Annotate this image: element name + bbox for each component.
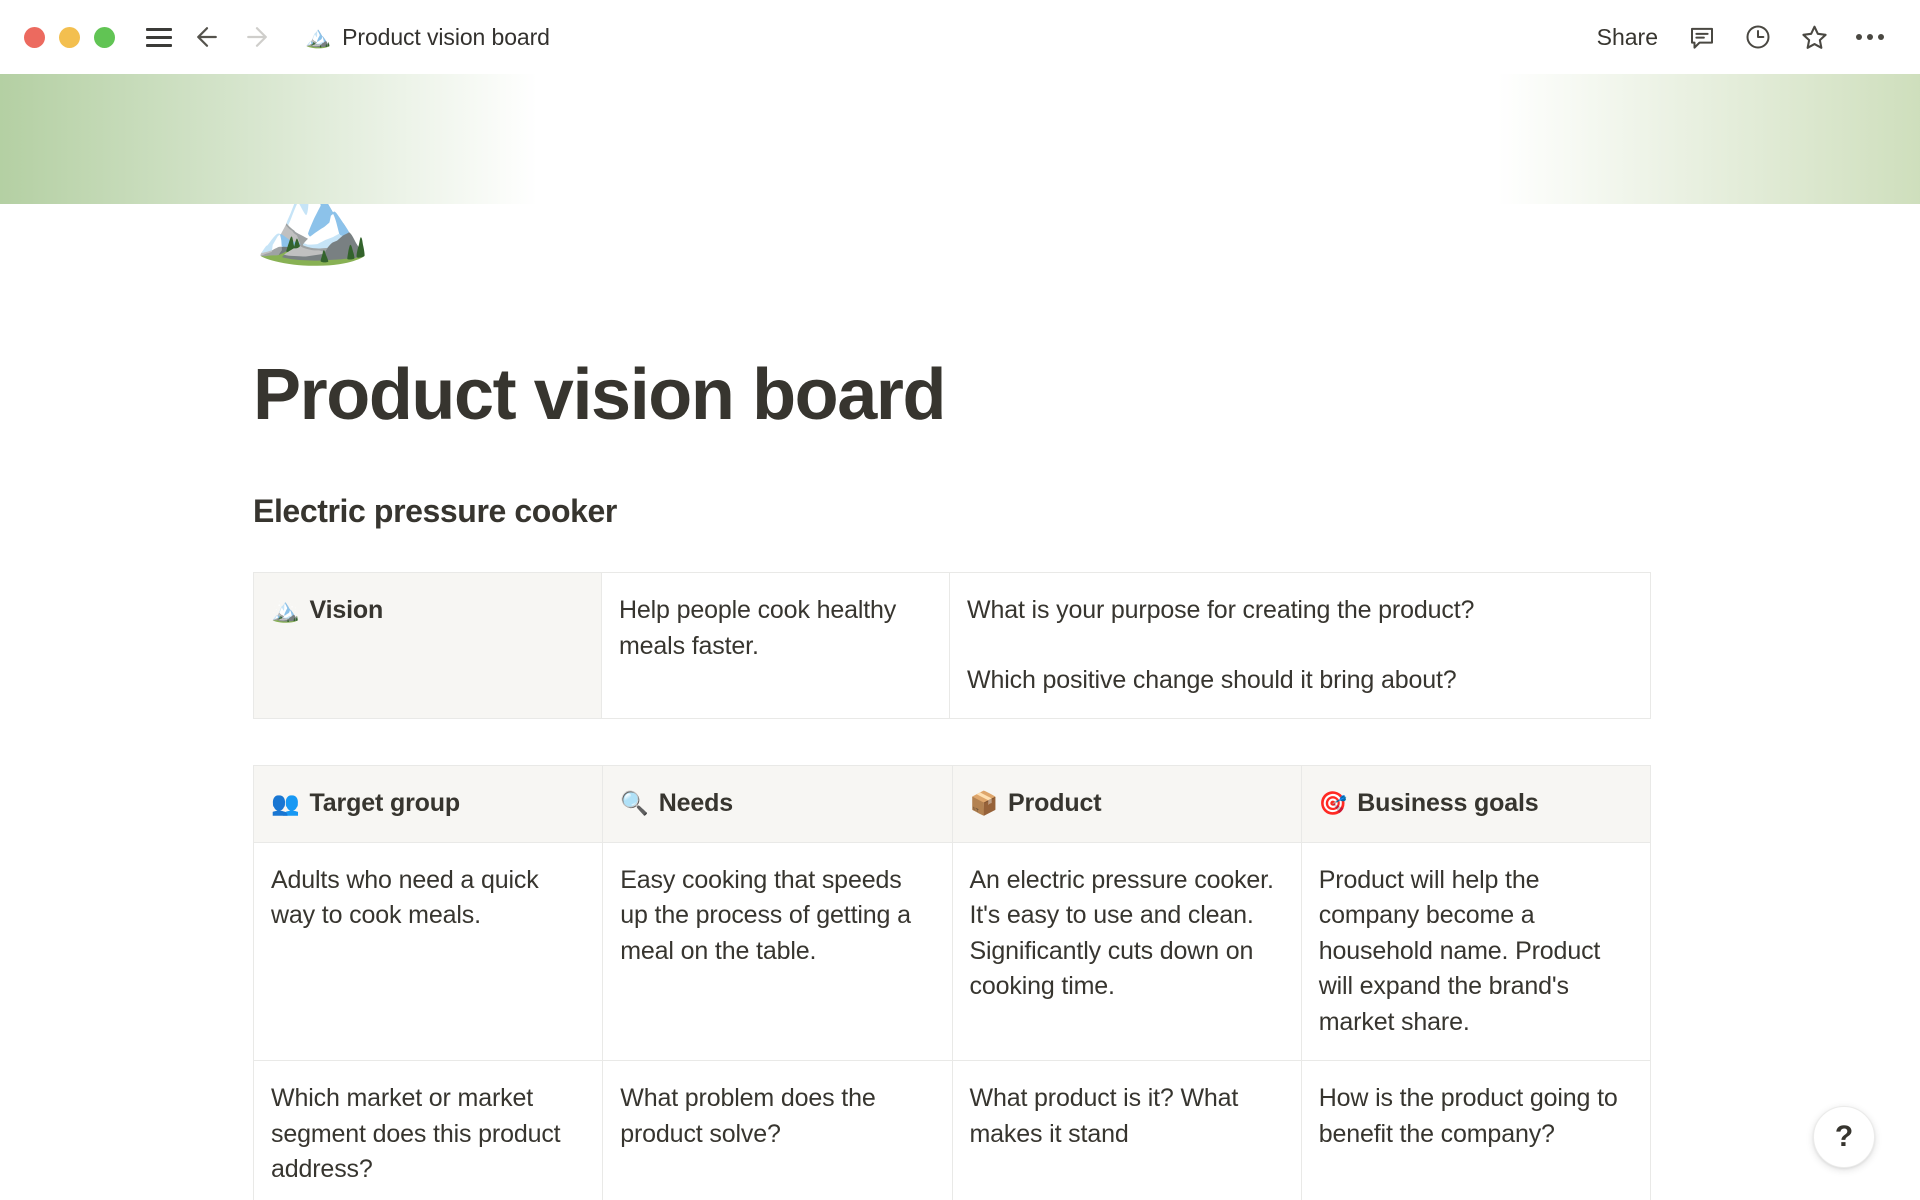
back-button[interactable] [185,15,229,59]
cell-needs-value[interactable]: Easy cooking that speeds up the process … [603,842,952,1061]
table-row: Adults who need a quick way to cook meal… [254,842,1651,1061]
window-titlebar: 🏔️ Product vision board Share [0,0,1920,74]
cell-target-group-value[interactable]: Adults who need a quick way to cook meal… [254,842,603,1061]
column-header-business-goals[interactable]: 🎯Business goals [1301,766,1650,843]
minimize-window-button[interactable] [59,27,80,48]
favorite-button[interactable] [1792,15,1836,59]
mountain-icon: 🏔️ [305,27,331,48]
page-icon-mountain-icon[interactable]: 🏔️ [253,204,373,262]
column-header-label: Target group [310,789,461,817]
more-horizontal-icon [1856,34,1884,40]
package-icon: 📦 [970,790,999,816]
vision-placeholder-cell[interactable]: What is your purpose for creating the pr… [950,573,1651,719]
hamburger-menu-button[interactable] [137,15,181,59]
page-title: Product vision board [253,204,1667,435]
cell-product-value[interactable]: An electric pressure cooker. It's easy t… [952,842,1301,1061]
cell-business-goals-value[interactable]: Product will help the company become a h… [1301,842,1650,1061]
close-window-button[interactable] [24,27,45,48]
magnifier-icon: 🔍 [620,790,649,816]
comments-button[interactable] [1680,15,1724,59]
comment-icon [1687,22,1717,52]
vision-board-table: 👥Target group 🔍Needs 📦Product 🎯Business … [253,765,1651,1200]
people-icon: 👥 [271,790,300,816]
forward-button[interactable] [235,15,279,59]
table-row: 🏔️Vision Help people cook healthy meals … [254,573,1651,719]
mountain-icon: 🏔️ [271,597,300,623]
vision-placeholder-1: What is your purpose for creating the pr… [967,593,1634,629]
vision-label-cell[interactable]: 🏔️Vision [254,573,602,719]
target-icon: 🎯 [1319,790,1348,816]
question-mark-icon: ? [1835,1120,1853,1154]
column-header-label: Product [1008,789,1101,817]
hamburger-icon [146,28,172,47]
page-content: 🏔️ Product vision board Electric pressur… [0,204,1920,1200]
more-options-button[interactable] [1848,15,1892,59]
column-header-product[interactable]: 📦Product [952,766,1301,843]
arrow-left-icon [192,22,222,52]
cell-business-goals-placeholder[interactable]: How is the product going to benefit the … [1301,1061,1650,1200]
vision-value-cell[interactable]: Help people cook healthy meals faster. [602,573,950,719]
page-subtitle: Electric pressure cooker [253,493,1667,530]
history-button[interactable] [1736,15,1780,59]
vision-label: Vision [310,596,384,624]
cell-product-placeholder[interactable]: What product is it? What makes it stand [952,1061,1301,1200]
cell-needs-placeholder[interactable]: What problem does the product solve? [603,1061,952,1200]
traffic-lights [24,27,115,48]
help-button[interactable]: ? [1813,1106,1875,1168]
cell-target-group-placeholder[interactable]: Which market or market segment does this… [254,1061,603,1200]
vision-table: 🏔️Vision Help people cook healthy meals … [253,572,1651,719]
table-row: Which market or market segment does this… [254,1061,1651,1200]
maximize-window-button[interactable] [94,27,115,48]
breadcrumb[interactable]: 🏔️ Product vision board [297,19,558,56]
arrow-right-icon [242,22,272,52]
column-header-needs[interactable]: 🔍Needs [603,766,952,843]
column-header-label: Business goals [1357,789,1538,817]
clock-icon [1743,22,1773,52]
vision-placeholder-2: Which positive change should it bring ab… [967,663,1634,699]
column-header-target-group[interactable]: 👥Target group [254,766,603,843]
table-header-row: 👥Target group 🔍Needs 📦Product 🎯Business … [254,766,1651,843]
breadcrumb-title: Product vision board [342,24,550,51]
page-cover-image[interactable] [0,74,1920,204]
column-header-label: Needs [659,789,733,817]
star-icon [1799,22,1830,53]
navigation-controls [185,15,279,59]
share-button[interactable]: Share [1587,18,1668,57]
titlebar-actions: Share [1587,15,1892,59]
